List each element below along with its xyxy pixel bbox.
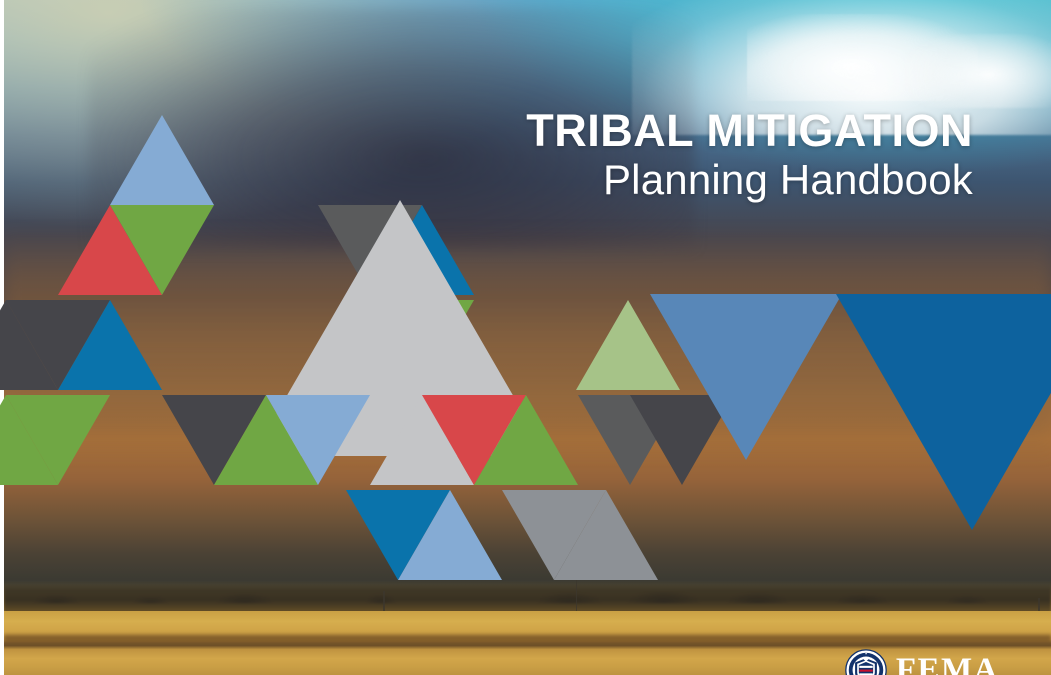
cloud-wisp-icon (904, 34, 1051, 108)
fema-logo-lockup: ★ FEMA (845, 649, 999, 675)
page-subtitle: Planning Handbook (526, 155, 973, 205)
fema-wordmark: FEMA (896, 654, 999, 675)
page-title: TRIBAL MITIGATION (526, 108, 973, 155)
field-furrow-streak (4, 633, 1051, 644)
dhs-seal-icon: ★ (845, 649, 887, 675)
svg-text:★: ★ (865, 651, 868, 655)
publication-cover: TRIBAL MITIGATION Planning Handbook ★ FE… (0, 0, 1051, 675)
cover-title-block: TRIBAL MITIGATION Planning Handbook (526, 108, 973, 204)
cover-photo (4, 0, 1051, 675)
dust-haze-band (4, 230, 1051, 460)
